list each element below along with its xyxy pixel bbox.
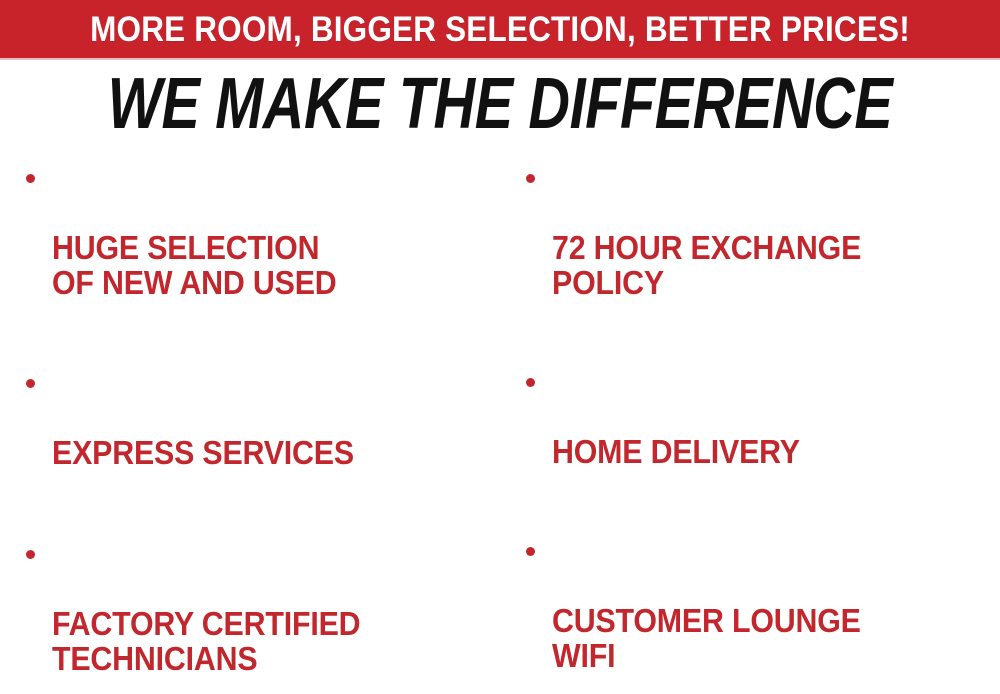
list-item-label: FACTORY CERTIFIED TECHNICIANS (52, 606, 462, 676)
benefits-column-right: 72 HOUR EXCHANGE POLICY HOME DELIVERY CU… (518, 160, 1000, 694)
bullet-dot-icon (526, 547, 535, 556)
banner-headline-text: MORE ROOM, BIGGER SELECTION, BETTER PRIC… (50, 0, 950, 58)
list-item: EXPRESS SERVICES (18, 365, 498, 505)
top-banner: MORE ROOM, BIGGER SELECTION, BETTER PRIC… (0, 0, 1000, 58)
banner-underline-divider (0, 58, 1000, 60)
list-item: 72 HOUR EXCHANGE POLICY (518, 160, 1000, 335)
bullet-dot-icon (26, 550, 35, 559)
benefits-column-left: HUGE SELECTION OF NEW AND USED EXPRESS S… (18, 160, 498, 694)
bullet-dot-icon (26, 174, 35, 183)
list-item-label: HOME DELIVERY (552, 434, 964, 469)
list-item: HOME DELIVERY (518, 364, 1000, 504)
bullet-dot-icon (526, 174, 535, 183)
page-title: WE MAKE THE DIFFERENCE (100, 68, 900, 140)
list-item-label: EXPRESS SERVICES (52, 435, 462, 470)
list-item: FACTORY CERTIFIED TECHNICIANS (18, 536, 498, 694)
list-item-label: CUSTOMER LOUNGE WIFI (552, 603, 964, 673)
list-item: HUGE SELECTION OF NEW AND USED (18, 160, 498, 335)
list-item-label: 72 HOUR EXCHANGE POLICY (552, 230, 964, 300)
list-item: CUSTOMER LOUNGE WIFI (518, 533, 1000, 694)
promo-flyer: MORE ROOM, BIGGER SELECTION, BETTER PRIC… (0, 0, 1000, 694)
bullet-dot-icon (526, 378, 535, 387)
list-item-label: HUGE SELECTION OF NEW AND USED (52, 230, 462, 300)
bullet-dot-icon (26, 379, 35, 388)
